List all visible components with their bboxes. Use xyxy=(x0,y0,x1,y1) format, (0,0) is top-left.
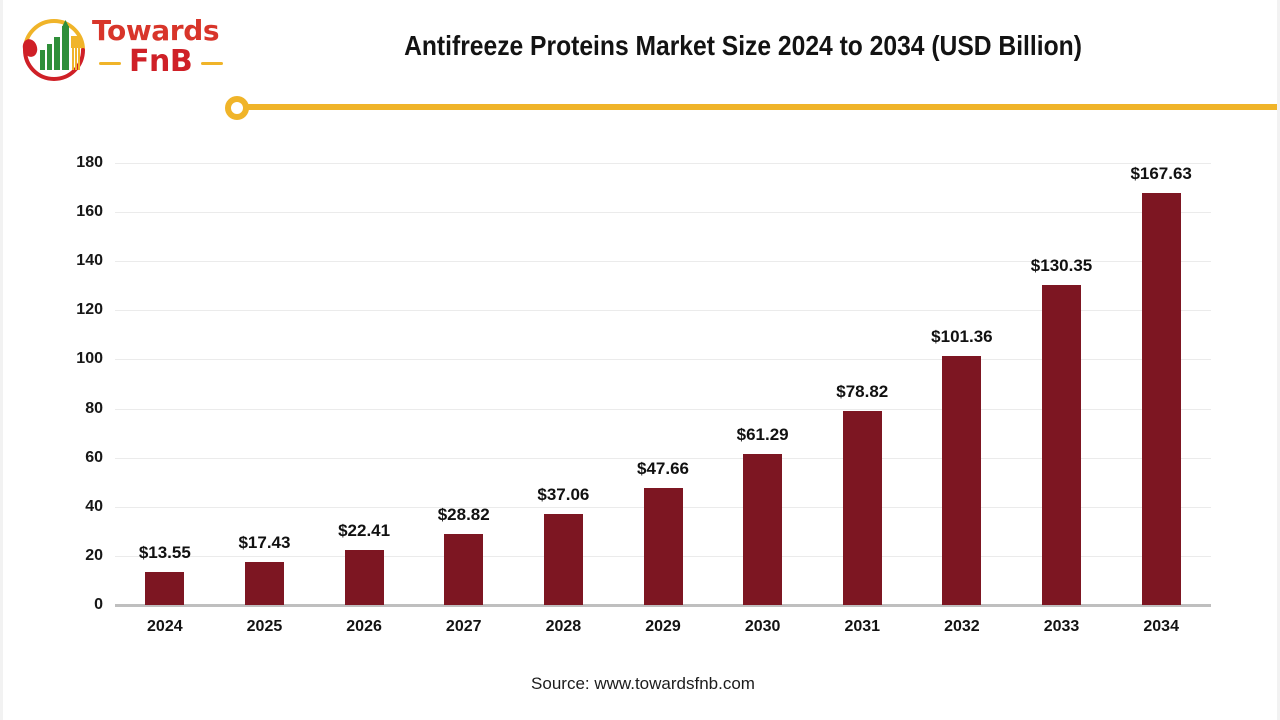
y-axis-tick-label: 40 xyxy=(45,498,103,516)
bar[interactable] xyxy=(345,550,384,605)
x-axis-tick-label: 2033 xyxy=(1012,618,1112,636)
y-axis-tick-label: 140 xyxy=(45,252,103,270)
y-axis-tick-label: 180 xyxy=(45,154,103,172)
brand-dash-right xyxy=(201,62,223,65)
bar[interactable] xyxy=(444,534,483,605)
brand-dash-left xyxy=(99,62,121,65)
bar[interactable] xyxy=(544,514,583,605)
bar[interactable] xyxy=(942,356,981,605)
y-axis-tick-label: 80 xyxy=(45,400,103,418)
brand-logo[interactable]: Towards FnB xyxy=(17,12,222,84)
y-axis-tick-label: 120 xyxy=(45,301,103,319)
y-axis-tick-label: 160 xyxy=(45,203,103,221)
x-axis-tick-label: 2032 xyxy=(912,618,1012,636)
bar[interactable] xyxy=(145,572,184,605)
x-axis-tick-label: 2026 xyxy=(314,618,414,636)
x-axis-tick-label: 2024 xyxy=(115,618,215,636)
chart-title: Antifreeze Proteins Market Size 2024 to … xyxy=(294,30,1192,62)
gridline xyxy=(115,212,1211,213)
header-divider-line xyxy=(246,104,1280,110)
x-axis-tick-label: 2029 xyxy=(613,618,713,636)
x-axis-tick-label: 2030 xyxy=(713,618,813,636)
bar-value-label: $47.66 xyxy=(603,459,723,479)
x-axis-tick-label: 2034 xyxy=(1111,618,1211,636)
bar-value-label: $130.35 xyxy=(1002,256,1122,276)
chart-page: Towards FnB Antifreeze Proteins Market S… xyxy=(0,0,1280,720)
brand-word-towards: Towards xyxy=(92,16,219,46)
brand-word-fnb: FnB xyxy=(129,46,192,78)
brand-wordmark: Towards FnB xyxy=(91,16,231,80)
y-axis-tick-label: 0 xyxy=(45,596,103,614)
x-axis-tick-label: 2027 xyxy=(414,618,514,636)
x-axis-tick-label: 2031 xyxy=(812,618,912,636)
bar[interactable] xyxy=(743,454,782,605)
y-axis-tick-label: 20 xyxy=(45,547,103,565)
x-axis-tick-label: 2028 xyxy=(513,618,613,636)
bar-value-label: $61.29 xyxy=(703,425,823,445)
bar-value-label: $101.36 xyxy=(902,327,1022,347)
source-note: Source: www.towardsfnb.com xyxy=(3,674,1280,694)
bar[interactable] xyxy=(1142,193,1181,605)
bar[interactable] xyxy=(843,411,882,605)
bar[interactable] xyxy=(644,488,683,605)
bar[interactable] xyxy=(245,562,284,605)
bar-value-label: $28.82 xyxy=(404,505,524,525)
x-axis-tick-label: 2025 xyxy=(214,618,314,636)
bar-value-label: $37.06 xyxy=(503,485,623,505)
y-axis-tick-label: 100 xyxy=(45,350,103,368)
y-axis-tick-label: 60 xyxy=(45,449,103,467)
bar[interactable] xyxy=(1042,285,1081,605)
header-divider-ring-icon xyxy=(225,96,249,120)
gridline xyxy=(115,163,1211,164)
bar-value-label: $78.82 xyxy=(802,382,922,402)
bar-value-label: $167.63 xyxy=(1101,164,1221,184)
chart-header: Towards FnB Antifreeze Proteins Market S… xyxy=(3,0,1280,92)
towardsfnb-logo-icon xyxy=(17,14,91,82)
